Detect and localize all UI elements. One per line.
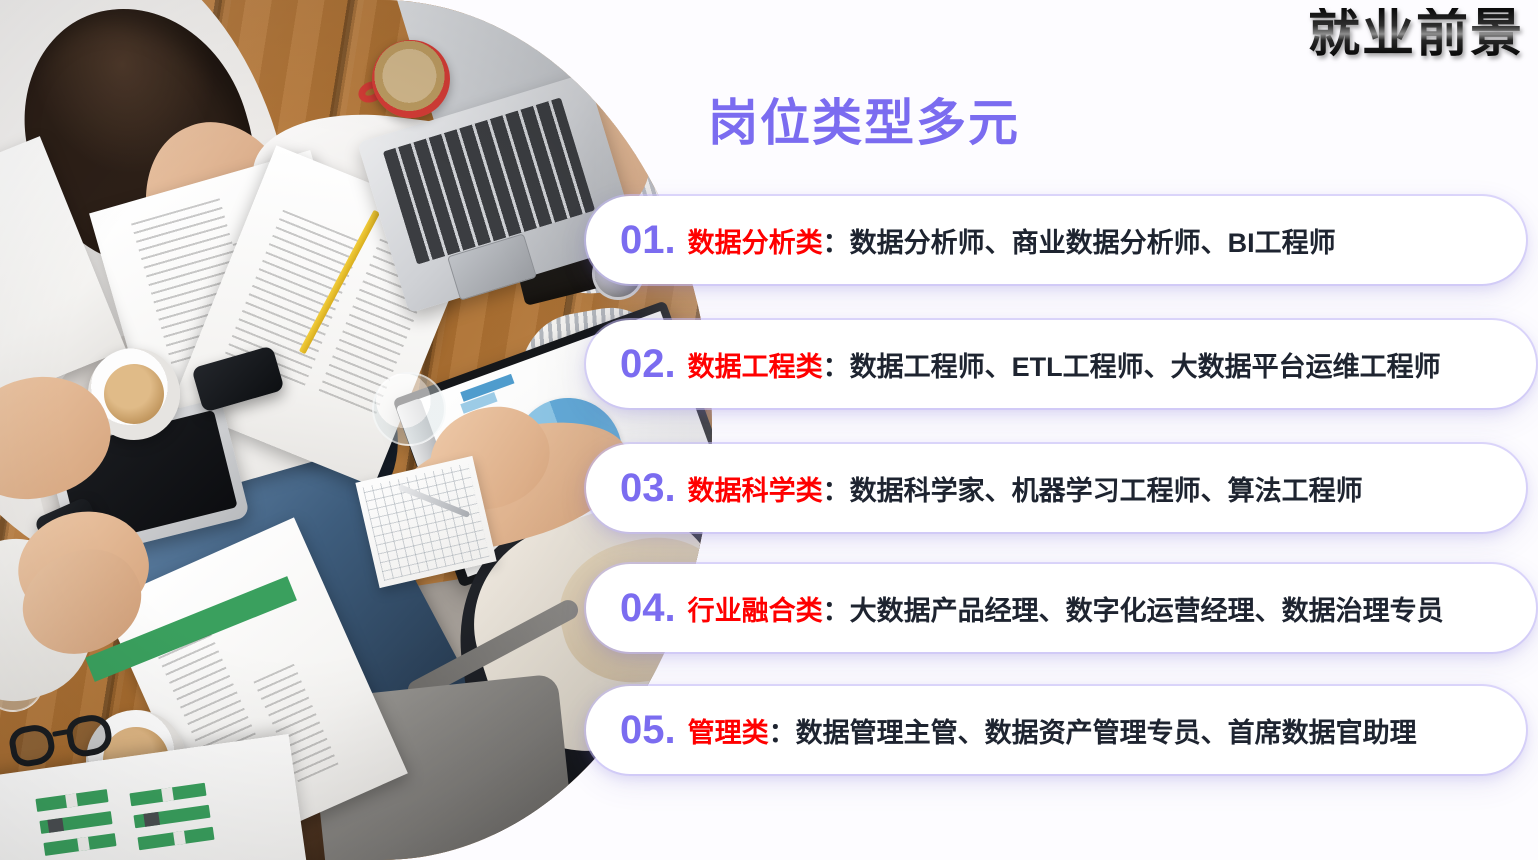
list-item-body: ：数据科学家、机器学习工程师、算法工程师 [823,469,1363,508]
list-item[interactable]: 02. 数据工程类 ：数据工程师、ETL工程师、大数据平台运维工程师 [586,320,1536,408]
list-item-body: ：数据管理主管、数据资产管理专员、首席数据官助理 [769,711,1417,750]
list-item-number: 02. [620,342,676,387]
list-item-body: ：大数据产品经理、数字化运营经理、数据治理专员 [823,589,1444,628]
list-item-category: 数据科学类 [688,469,823,508]
list-item[interactable]: 05. 管理类 ：数据管理主管、数据资产管理专员、首席数据官助理 [586,686,1526,774]
list-item-category: 数据工程类 [688,345,823,384]
list-item-body: ：数据分析师、商业数据分析师、BI工程师 [823,221,1336,260]
list-item-number: 01. [620,218,676,263]
list-item[interactable]: 04. 行业融合类 ：大数据产品经理、数字化运营经理、数据治理专员 [586,564,1536,652]
list-item-number: 04. [620,586,676,631]
list-item-category: 数据分析类 [688,221,823,260]
job-category-list: 01. 数据分析类 ：数据分析师、商业数据分析师、BI工程师 02. 数据工程类… [0,0,1538,860]
list-item-number: 03. [620,466,676,511]
list-item[interactable]: 03. 数据科学类 ：数据科学家、机器学习工程师、算法工程师 [586,444,1526,532]
list-item-category: 行业融合类 [688,589,823,628]
slide-root: 就业前景 岗位类型多元 01. 数据分析类 ：数据分析师、商业数据分析师、BI工… [0,0,1538,860]
list-item-category: 管理类 [688,711,769,750]
list-item-number: 05. [620,708,676,753]
list-item[interactable]: 01. 数据分析类 ：数据分析师、商业数据分析师、BI工程师 [586,196,1526,284]
list-item-body: ：数据工程师、ETL工程师、大数据平台运维工程师 [823,345,1441,384]
